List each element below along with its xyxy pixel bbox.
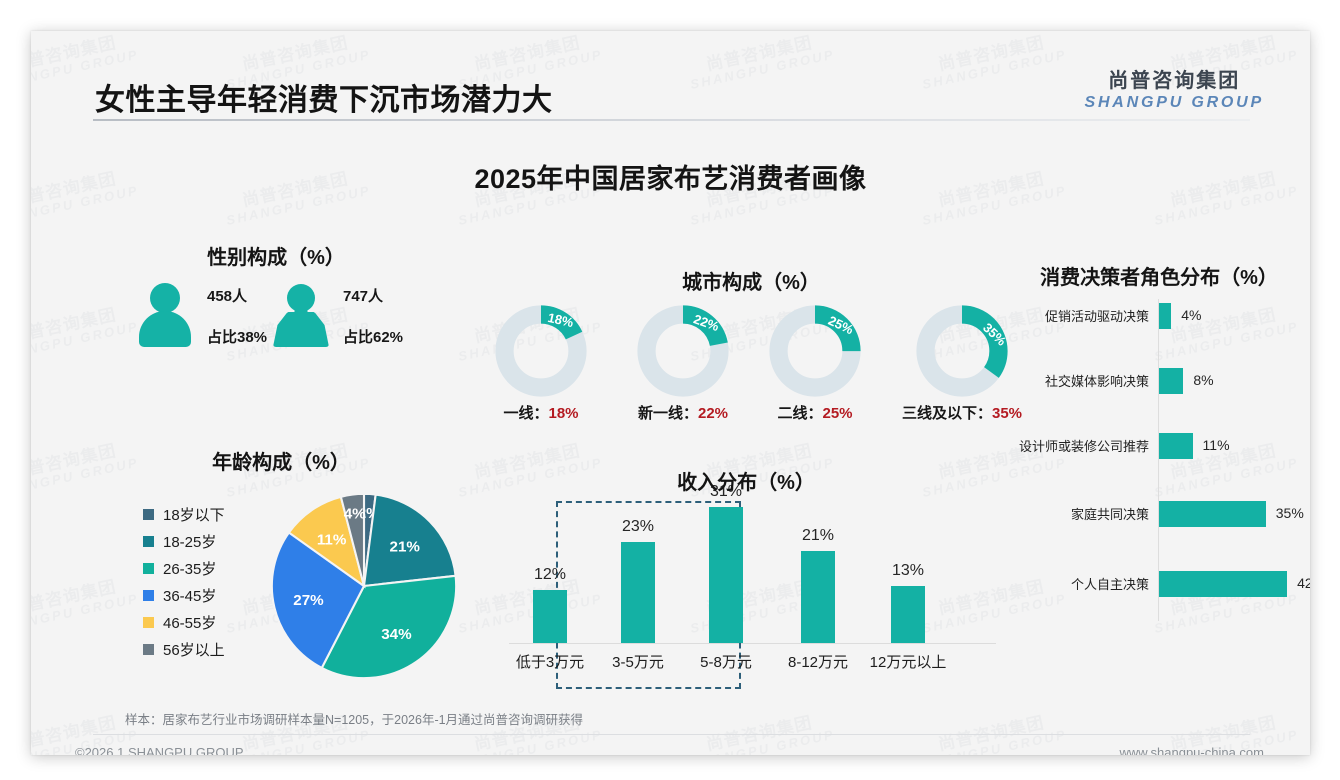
age-legend-item[interactable]: 46-55岁 [143, 609, 225, 636]
city-donut-caption: 一线：18% [481, 402, 601, 423]
decision-category-label: 社交媒体影响决策 [1045, 371, 1149, 390]
decision-bar-row[interactable]: 促销活动驱动决策4% [1011, 303, 1310, 329]
brand-logo: 尚普咨询集团 SHANGPU GROUP [1084, 64, 1264, 112]
legend-swatch-icon [143, 509, 154, 520]
city-tier-label: 三线及以下： [902, 405, 992, 422]
pie-slice-label: 34% [381, 626, 412, 643]
income-bar[interactable] [709, 507, 743, 643]
city-tier-value: 25% [822, 405, 852, 422]
header-divider [93, 119, 1250, 121]
gender-female-share: 占比62% [343, 326, 403, 347]
income-bar-value: 21% [771, 527, 865, 545]
decision-bar[interactable] [1159, 571, 1287, 597]
decision-bar-value: 4% [1181, 307, 1201, 323]
decision-bar-row[interactable]: 个人自主决策42% [1011, 571, 1310, 597]
gender-male-share: 占比38% [207, 326, 267, 347]
city-tier-label: 二线： [777, 405, 822, 422]
watermark-text: 尚普咨询集团SHANGPU GROUP [917, 710, 1068, 755]
age-panel-title: 年龄构成（%） [101, 446, 461, 475]
income-bar-group[interactable]: 12% [503, 560, 597, 643]
male-silhouette-icon [137, 281, 193, 351]
brand-name-cn: 尚普咨询集团 [1084, 64, 1264, 93]
gender-female-count: 747人 [343, 285, 403, 306]
decision-bar[interactable] [1159, 368, 1183, 394]
decision-bar-value: 35% [1276, 505, 1304, 521]
age-legend-item[interactable]: 18-25岁 [143, 528, 225, 555]
gender-item-male: 458人 占比38% [137, 281, 267, 351]
brand-name-en: SHANGPU GROUP [1084, 94, 1264, 112]
city-donut-chart: 25% [767, 303, 863, 399]
pie-slice-label: 4% [344, 506, 366, 523]
decision-category-label: 个人自主决策 [1071, 574, 1149, 593]
slide-header: 女性主导年轻消费下沉市场潜力大 尚普咨询集团 SHANGPU GROUP [31, 31, 1310, 127]
legend-swatch-icon [143, 536, 154, 547]
decision-bar-row[interactable]: 家庭共同决策35% [1011, 501, 1310, 527]
decision-bar-value: 42% [1297, 575, 1310, 591]
city-tier-value: 18% [548, 405, 578, 422]
decision-bar[interactable] [1159, 501, 1266, 527]
income-category-label: 12万元以上 [854, 651, 962, 672]
income-distribution-panel: 收入分布（%） 12%低于3万元23%3-5万元31%5-8万元21%8-12万… [481, 451, 1011, 691]
donut-arc-label: 18% [546, 310, 575, 330]
pie-slice-label: 21% [390, 539, 421, 556]
legend-swatch-icon [143, 563, 154, 574]
city-donut-chart: 22% [635, 303, 731, 399]
decision-category-label: 设计师或装修公司推荐 [1019, 436, 1149, 455]
website-link[interactable]: www.shangpu-china.com [1119, 745, 1264, 755]
copyright-text: ©2026.1 SHANGPU GROUP [75, 745, 244, 755]
watermark-text: 尚普咨询集团SHANGPU GROUP [685, 710, 836, 755]
city-donut-item[interactable]: 18%一线：18% [481, 303, 601, 423]
age-legend-label: 18-25岁 [163, 531, 216, 552]
sample-note: 样本：居家布艺行业市场调研样本量N=1205，于2026年-1月通过尚普咨询调研… [125, 709, 583, 728]
income-bar-value: 13% [861, 562, 955, 580]
decision-role-panel: 消费决策者角色分布（%） 促销活动驱动决策4%社交媒体影响决策8%设计师或装修公… [1011, 241, 1310, 631]
age-legend-label: 36-45岁 [163, 585, 216, 606]
income-bar-value: 23% [591, 518, 685, 536]
income-bar-group[interactable]: 21% [771, 521, 865, 643]
income-bar-value: 12% [503, 566, 597, 584]
city-donut-chart: 35% [914, 303, 1010, 399]
city-panel-title: 城市构成（%） [471, 266, 1031, 295]
city-donut-item[interactable]: 22%新一线：22% [613, 303, 753, 423]
income-bar-group[interactable]: 31% [679, 477, 773, 643]
income-bar-group[interactable]: 13% [861, 556, 955, 643]
decision-panel-title: 消费决策者角色分布（%） [1011, 261, 1307, 290]
gender-male-text: 458人 占比38% [207, 285, 267, 347]
income-bar[interactable] [891, 586, 925, 643]
income-panel-title: 收入分布（%） [481, 466, 1011, 495]
income-bar[interactable] [801, 551, 835, 643]
decision-bar[interactable] [1159, 303, 1171, 329]
gender-female-text: 747人 占比62% [343, 285, 403, 347]
age-legend-label: 56岁以上 [163, 639, 225, 660]
city-donut-item[interactable]: 25%二线：25% [753, 303, 877, 423]
city-tier-label: 一线： [503, 405, 548, 422]
pie-slice-label: 27% [293, 592, 324, 609]
age-pie-chart: 2%21%34%27%11%4% [269, 491, 459, 681]
income-bar-group[interactable]: 23% [591, 512, 685, 643]
main-title: 2025年中国居家布艺消费者画像 [31, 157, 1310, 196]
decision-bar-value: 11% [1203, 437, 1230, 453]
decision-bar-value: 8% [1193, 372, 1213, 388]
age-composition-panel: 年龄构成（%） 18岁以下18-25岁26-35岁36-45岁46-55岁56岁… [101, 446, 461, 686]
income-bar[interactable] [533, 590, 567, 643]
age-legend-item[interactable]: 56岁以上 [143, 636, 225, 663]
legend-swatch-icon [143, 590, 154, 601]
city-composition-panel: 城市构成（%） 18%一线：18%22%新一线：22%25%二线：25%35%三… [471, 241, 1031, 401]
age-legend-item[interactable]: 36-45岁 [143, 582, 225, 609]
city-donut-chart: 18% [493, 303, 589, 399]
age-legend-label: 26-35岁 [163, 558, 216, 579]
city-tier-value: 22% [698, 405, 728, 422]
page-title: 女性主导年轻消费下沉市场潜力大 [95, 75, 553, 119]
legend-swatch-icon [143, 644, 154, 655]
pie-slice-label: 11% [317, 532, 347, 549]
footer-divider [93, 734, 1250, 735]
age-legend-item[interactable]: 26-35岁 [143, 555, 225, 582]
age-legend-label: 18岁以下 [163, 504, 225, 525]
female-silhouette-icon [273, 281, 329, 351]
gender-male-count: 458人 [207, 285, 267, 306]
age-legend: 18岁以下18-25岁26-35岁36-45岁46-55岁56岁以上 [143, 501, 225, 663]
city-tier-label: 新一线： [638, 405, 698, 422]
slide-card: 尚普咨询集团SHANGPU GROUP尚普咨询集团SHANGPU GROUP尚普… [31, 31, 1310, 755]
city-donut-caption: 新一线：22% [613, 402, 753, 423]
legend-swatch-icon [143, 617, 154, 628]
infographic-page: 尚普咨询集团SHANGPU GROUP尚普咨询集团SHANGPU GROUP尚普… [0, 0, 1340, 780]
decision-bar[interactable] [1159, 433, 1193, 459]
gender-panel-title: 性别构成（%） [101, 241, 451, 270]
income-bar[interactable] [621, 542, 655, 643]
city-donut-caption: 二线：25% [753, 402, 877, 423]
decision-category-label: 家庭共同决策 [1071, 504, 1149, 523]
decision-category-label: 促销活动驱动决策 [1045, 306, 1149, 325]
age-pie-svg: 2%21%34%27%11%4% [269, 491, 459, 681]
decision-bar-row[interactable]: 社交媒体影响决策8% [1011, 368, 1310, 394]
gender-item-female: 747人 占比62% [273, 281, 403, 351]
age-legend-label: 46-55岁 [163, 612, 216, 633]
gender-composition-panel: 性别构成（%） 458人 占比38% 747人 占比62% [101, 241, 451, 381]
decision-bar-row[interactable]: 设计师或装修公司推荐11% [1011, 433, 1310, 459]
age-legend-item[interactable]: 18岁以下 [143, 501, 225, 528]
